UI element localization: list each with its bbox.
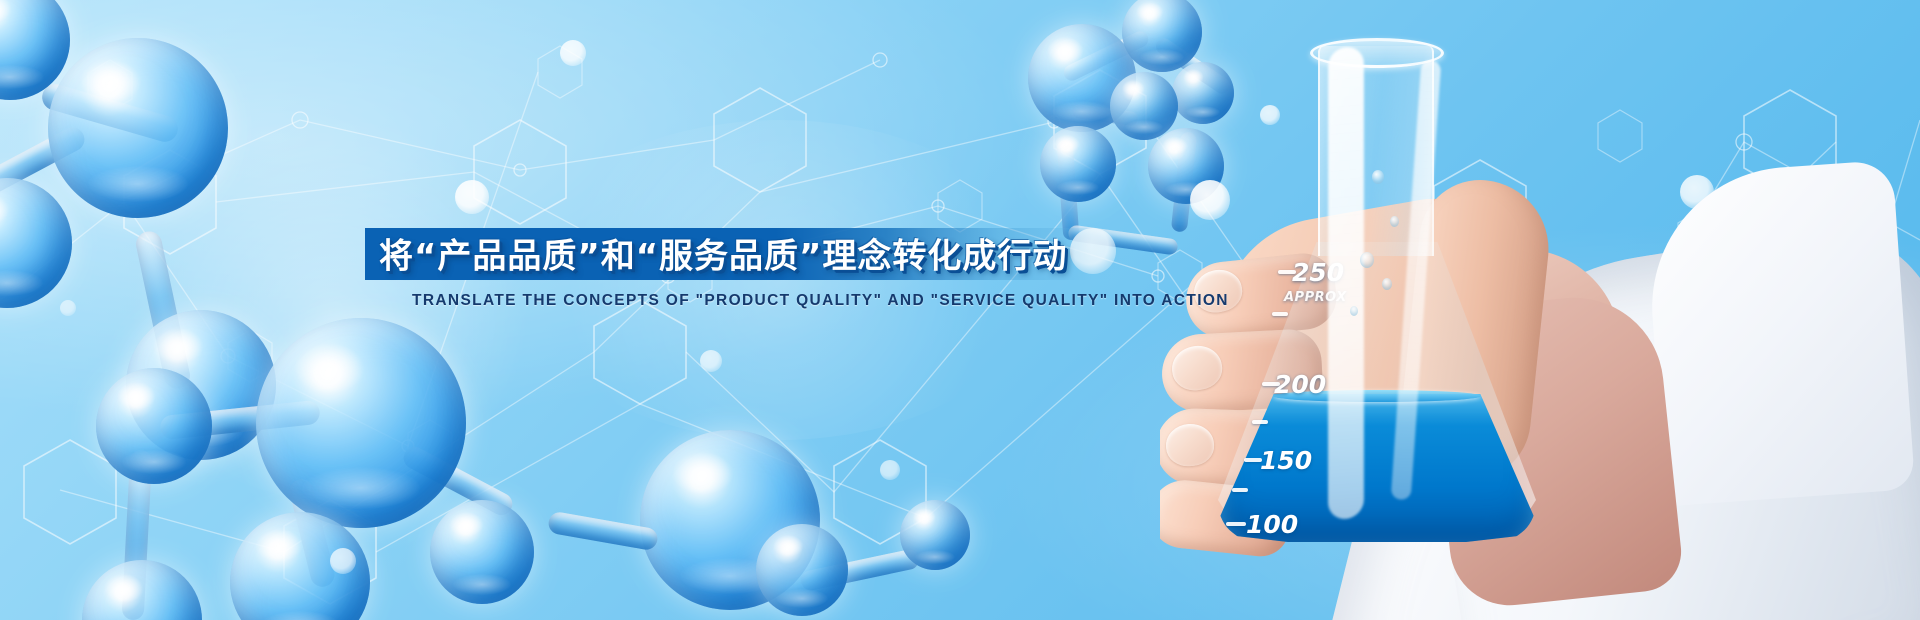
molecule-sphere <box>756 524 848 616</box>
bokeh-dot <box>700 350 722 372</box>
flask-tick <box>1252 420 1268 424</box>
bokeh-dot <box>560 40 586 66</box>
molecule-sphere <box>1040 126 1116 202</box>
erlenmeyer-flask: 250 APPROX 200 150 100 <box>1200 20 1560 560</box>
bokeh-dot <box>60 300 76 316</box>
promotional-banner: 250 APPROX 200 150 100 将“产品品质”和“服务品质”理念转… <box>0 0 1920 620</box>
flask-graduation-100: 100 <box>1246 510 1298 539</box>
molecule-sphere <box>256 318 466 528</box>
bokeh-dot <box>880 460 900 480</box>
flask-tick <box>1232 488 1248 492</box>
flask-glass-highlight <box>1328 46 1364 521</box>
molecule-sphere <box>430 500 534 604</box>
headline-banner: 将“产品品质”和“服务品质”理念转化成行动 <box>365 228 1155 280</box>
lab-coat-collar <box>1643 160 1915 507</box>
molecule-sphere <box>48 38 228 218</box>
bokeh-dot <box>455 180 489 214</box>
flask-tick <box>1272 312 1288 316</box>
page-title: 将“产品品质”和“服务品质”理念转化成行动 <box>379 229 1067 278</box>
molecule-sphere <box>96 368 212 484</box>
water-droplet <box>1382 278 1392 290</box>
bokeh-dot <box>330 548 356 574</box>
page-subtitle: TRANSLATE THE CONCEPTS OF "PRODUCT QUALI… <box>412 292 1229 310</box>
water-droplet <box>1390 216 1399 227</box>
molecule-sphere <box>82 560 202 620</box>
water-droplet <box>1360 252 1374 268</box>
flask-graduation-150: 150 <box>1260 446 1312 475</box>
ambient-glow-center <box>520 120 1040 440</box>
water-droplet <box>1372 170 1384 184</box>
flask-graduation-200: 200 <box>1274 370 1326 399</box>
molecule-sphere <box>900 500 970 570</box>
scientist-holding-flask-photo: 250 APPROX 200 150 100 <box>1160 0 1920 620</box>
water-droplet <box>1350 306 1358 316</box>
flask-tick <box>1226 522 1246 526</box>
molecule-sphere <box>0 178 72 308</box>
